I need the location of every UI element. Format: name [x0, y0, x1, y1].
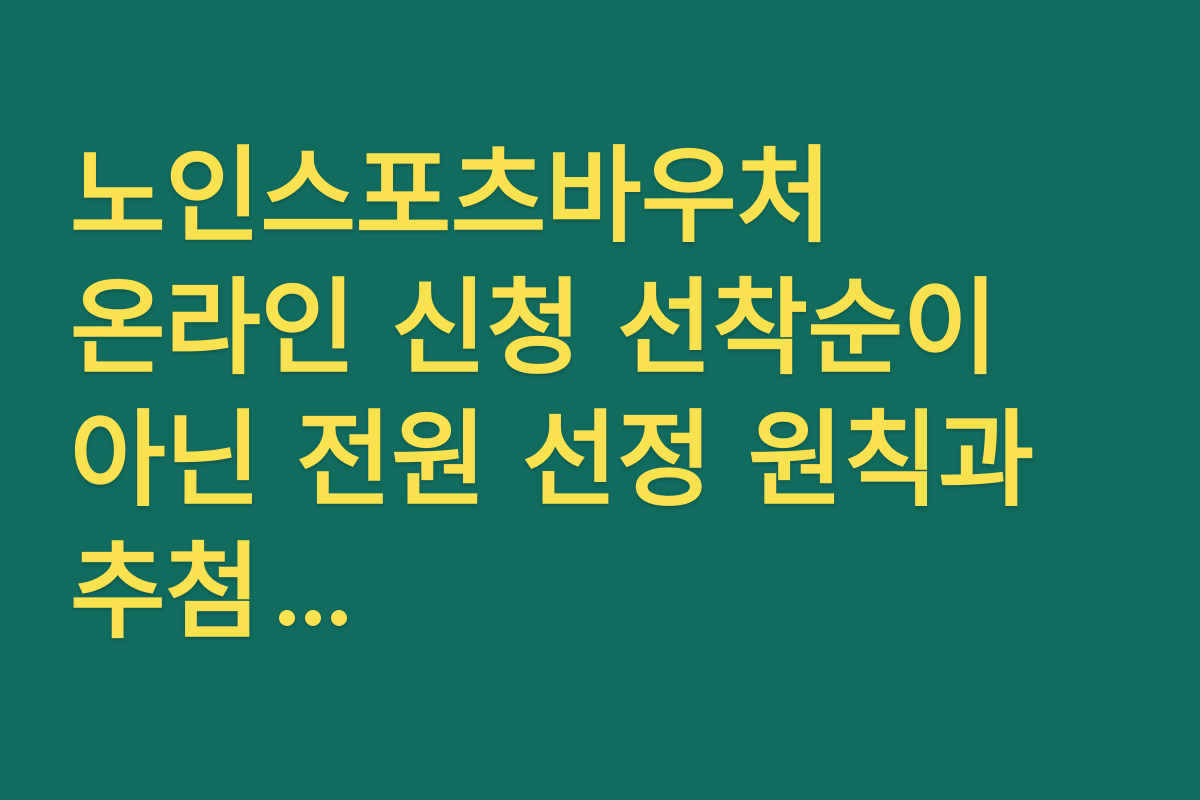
ellipsis-dot	[279, 610, 295, 626]
ellipsis-icon	[274, 524, 352, 656]
ellipsis-dot	[331, 610, 347, 626]
page-title: 노인스포츠바우처 온라인 신청 선착순이 아닌 전원 선정 원칙과 추첨	[70, 130, 1130, 666]
headline-text-content: 노인스포츠바우처 온라인 신청 선착순이 아닌 전원 선정 원칙과 추첨	[70, 135, 1034, 653]
headline-block: 노인스포츠바우처 온라인 신청 선착순이 아닌 전원 선정 원칙과 추첨	[70, 130, 1130, 666]
thumbnail-card: 노인스포츠바우처 온라인 신청 선착순이 아닌 전원 선정 원칙과 추첨	[0, 0, 1200, 800]
ellipsis-dot	[305, 610, 321, 626]
